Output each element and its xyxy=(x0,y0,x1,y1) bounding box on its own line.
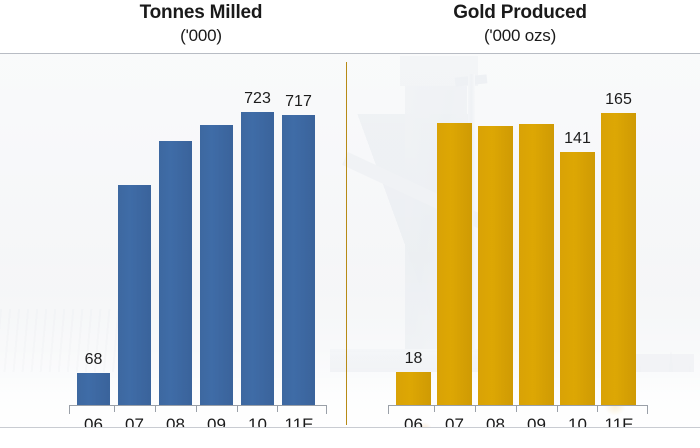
category-labels-layer: 060708091011E060708091011E xyxy=(0,0,700,448)
footer-strip xyxy=(0,428,700,448)
slide-canvas: Tonnes Milled ('000) Gold Produced ('000… xyxy=(0,0,700,448)
